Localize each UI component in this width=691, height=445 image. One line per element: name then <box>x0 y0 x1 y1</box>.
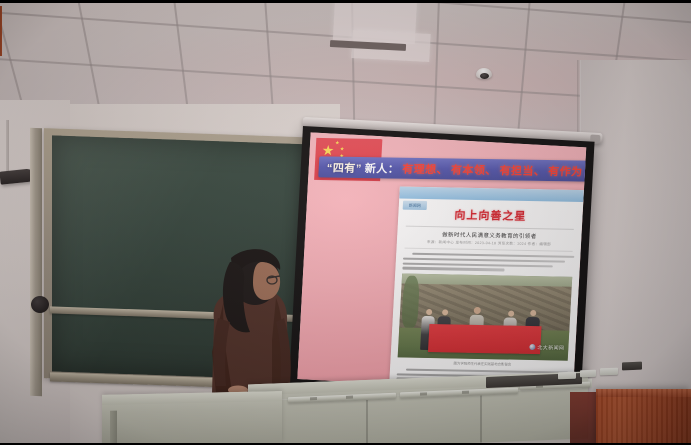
photo-red-banner <box>428 324 542 354</box>
board-track-knob <box>31 296 49 313</box>
slide-title-keyword-3: 有担当、 <box>499 162 546 179</box>
equipment-item <box>580 370 596 378</box>
flag-star-large: ★ <box>321 143 334 157</box>
article-photo: 北大新闻网 <box>398 273 573 360</box>
podium-leg <box>110 411 117 445</box>
equipment-item <box>600 368 618 376</box>
camera-lens <box>480 73 489 79</box>
article-site-header <box>399 187 584 203</box>
chalkboard-side-post <box>30 128 42 396</box>
projection-screen[interactable]: ★ ★ ★ ★ ★ “四有” 新人： 有理想、 有本领、 有担当、 有作为 <box>289 126 595 403</box>
article-text-line <box>403 257 565 262</box>
speaker-mount-arm <box>6 120 9 172</box>
presentation-slide: ★ ★ ★ ★ ★ “四有” 新人： 有理想、 有本领、 有担当、 有作为 <box>297 132 586 394</box>
teacher-podium <box>102 391 282 445</box>
frame-top-border <box>0 0 691 3</box>
slide-title-subject: 新人： <box>364 160 399 177</box>
slide-title-quoted-term: “四有” <box>326 159 362 176</box>
article-text-line <box>402 267 504 271</box>
rail-tick <box>346 396 353 399</box>
article-byline: 来源：新闻中心 发布时间：2023-04-18 浏览次数：1024 作者：编辑部 <box>405 240 573 248</box>
article-site-logo: 新闻网 <box>403 201 427 210</box>
lectern-wood-grain <box>596 389 691 445</box>
rail-tick <box>420 392 427 395</box>
news-article-screenshot: 新闻网 向上向善之星 做新时代人民满意义务教育的引领者 来源：新闻中心 发布时间… <box>389 187 584 387</box>
slide-title-keyword-2: 有本领、 <box>451 161 498 178</box>
green-chalkboard <box>52 135 316 380</box>
chalkboard-glare <box>52 135 316 380</box>
watermark-logo-icon <box>529 344 535 350</box>
slide-title-keyword-1: 有理想、 <box>402 160 449 177</box>
equipment-item <box>558 372 576 380</box>
lectern-side-edge <box>0 6 2 56</box>
console-seam <box>366 400 368 445</box>
flag-star-small: ★ <box>340 147 345 152</box>
watermark-text: 北大新闻网 <box>537 344 564 352</box>
article-divider <box>405 248 573 252</box>
slide-title-banner: “四有” 新人： 有理想、 有本领、 有担当、 有作为 <box>318 156 586 181</box>
article-photo-caption: 图为学院师生代表在实践基地合影留念 <box>397 359 567 367</box>
chalkboard-frame <box>44 128 322 388</box>
classroom-photo-scene: ★ ★ ★ ★ ★ “四有” 新人： 有理想、 有本领、 有担当、 有作为 <box>0 0 691 445</box>
dome-security-camera <box>476 68 492 79</box>
article-paragraph <box>402 253 573 273</box>
equipment-item <box>622 362 642 371</box>
slide-title-keyword-4: 有作为 <box>548 162 583 179</box>
article-headline: 向上向善之星 <box>404 206 577 225</box>
right-wall <box>580 60 691 445</box>
rail-tick <box>462 391 469 394</box>
screen-surface: ★ ★ ★ ★ ★ “四有” 新人： 有理想、 有本领、 有担当、 有作为 <box>297 132 586 394</box>
rail-tick <box>310 397 317 400</box>
wooden-lectern <box>596 389 691 445</box>
console-seam <box>480 396 482 443</box>
photo-watermark: 北大新闻网 <box>529 344 564 352</box>
